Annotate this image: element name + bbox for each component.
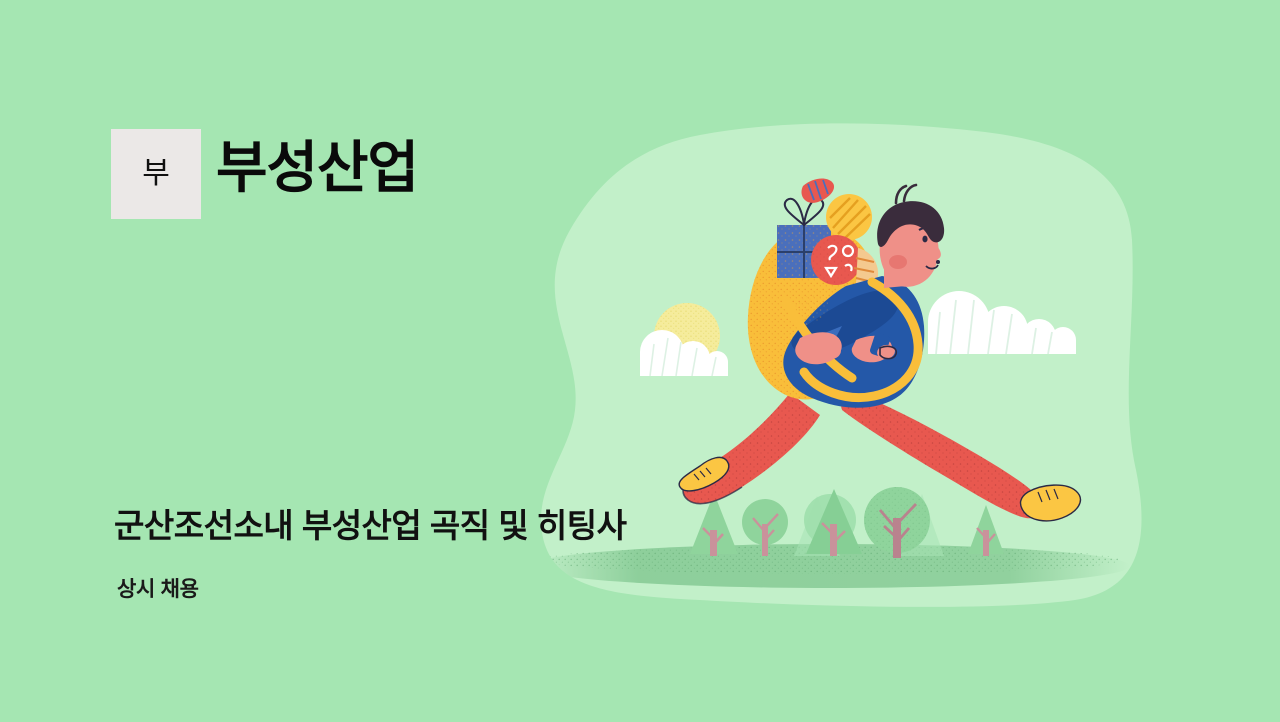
job-posting-card: 부 부성산업 군산조선소내 부성산업 곡직 및 히팅사 상시 채용: [0, 0, 1280, 722]
hiring-status: 상시 채용: [117, 577, 199, 602]
running-delivery-person-illustration: [0, 0, 1280, 722]
company-logo-badge: 부: [111, 129, 201, 219]
striped-ball: [826, 194, 872, 240]
company-name: 부성산업: [216, 136, 418, 200]
company-logo-glyph: 부: [142, 159, 170, 189]
job-title: 군산조선소내 부성산업 곡직 및 히팅사: [114, 506, 626, 546]
patterned-ball: [811, 235, 861, 285]
